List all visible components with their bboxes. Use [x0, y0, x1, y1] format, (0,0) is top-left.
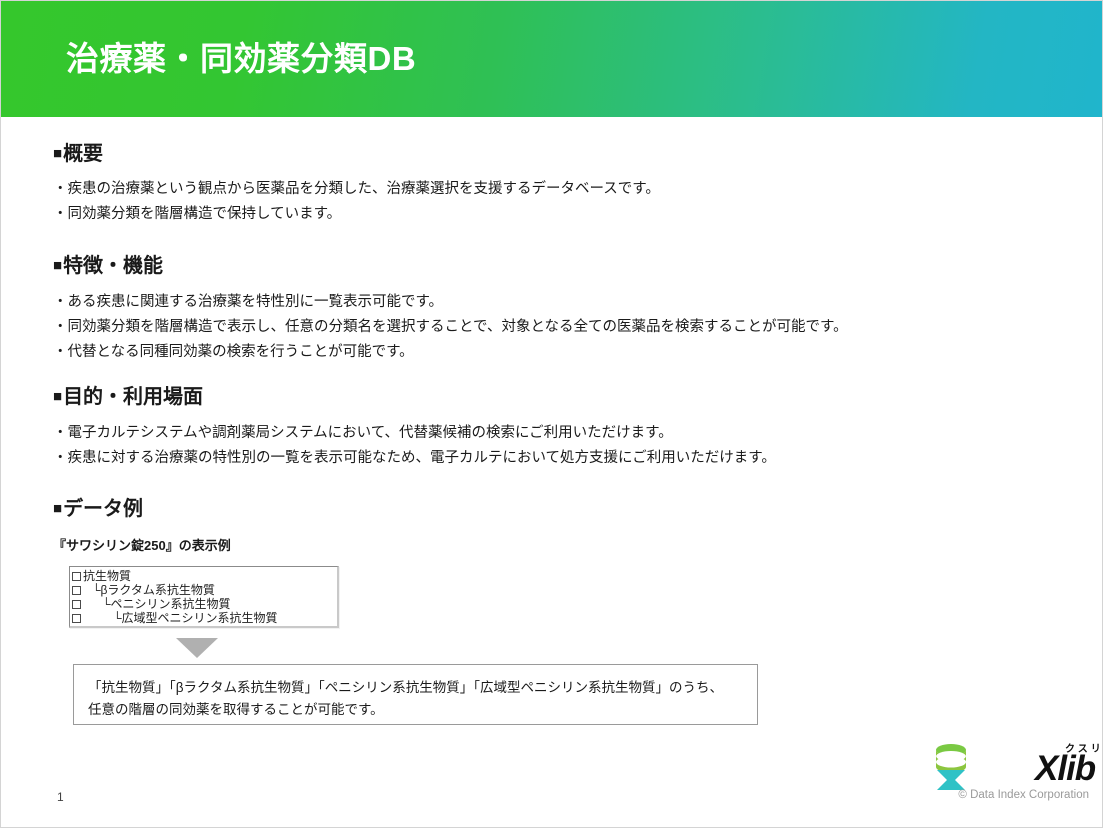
section-data-example-heading: ■データ例 — [53, 497, 339, 521]
section-features-title: 特徴・機能 — [63, 255, 163, 277]
section-marker-icon: ■ — [53, 388, 62, 405]
section-marker-icon: ■ — [53, 257, 62, 274]
section-marker-icon: ■ — [53, 145, 62, 162]
bullet-item: ・疾患の治療薬という観点から医薬品を分類した、治療薬選択を支援するデータベースで… — [53, 177, 660, 202]
section-purpose-heading: ■目的・利用場面 — [53, 385, 776, 409]
section-overview: ■概要 ・疾患の治療薬という観点から医薬品を分類した、治療薬選択を支援するデータ… — [53, 142, 660, 227]
checkbox-icon[interactable] — [72, 586, 81, 595]
bullet-item: ・ある疾患に関連する治療薬を特性別に一覧表示可能です。 — [53, 290, 848, 315]
tree-row[interactable]: └広域型ペニシリン系抗生物質 — [72, 611, 337, 625]
bullet-item: ・疾患に対する治療薬の特性別の一覧を表示可能なため、電子カルテにおいて処方支援に… — [53, 446, 776, 471]
bullet-item: ・同効薬分類を階層構造で表示し、任意の分類名を選択することで、対象となる全ての医… — [53, 315, 848, 340]
section-overview-title: 概要 — [63, 143, 103, 165]
tree-item-label: └広域型ペニシリン系抗生物質 — [83, 611, 278, 625]
tree-item-label: └βラクタム系抗生物質 — [83, 583, 215, 597]
section-purpose-bullets: ・電子カルテシステムや調剤薬局システムにおいて、代替薬候補の検索にご利用いただけ… — [53, 421, 776, 471]
classification-tree-box[interactable]: 抗生物質 └βラクタム系抗生物質 └ペニシリン系抗生物質 └広域型ペニシリン系抗… — [69, 566, 339, 628]
checkbox-icon[interactable] — [72, 600, 81, 609]
section-data-example: ■データ例 『サワシリン錠250』の表示例 抗生物質 └βラクタム系抗生物質 └… — [53, 497, 339, 628]
section-marker-icon: ■ — [53, 500, 62, 517]
checkbox-icon[interactable] — [72, 614, 81, 623]
page-number: 1 — [57, 790, 64, 804]
logo-wordmark: クスリブ Xlib — [977, 741, 1087, 791]
tree-row[interactable]: └ペニシリン系抗生物質 — [72, 597, 337, 611]
checkbox-icon[interactable] — [72, 572, 81, 581]
bullet-item: ・代替となる同種同効薬の検索を行うことが可能です。 — [53, 340, 848, 365]
section-purpose: ■目的・利用場面 ・電子カルテシステムや調剤薬局システムにおいて、代替薬候補の検… — [53, 385, 776, 471]
section-purpose-title: 目的・利用場面 — [63, 386, 203, 408]
bullet-item: ・同効薬分類を階層構造で保持しています。 — [53, 202, 660, 227]
section-features-bullets: ・ある疾患に関連する治療薬を特性別に一覧表示可能です。 ・同効薬分類を階層構造で… — [53, 290, 848, 365]
logo-text: Xlib — [1035, 749, 1095, 789]
section-features-heading: ■特徴・機能 — [53, 254, 848, 278]
data-example-caption: 『サワシリン錠250』の表示例 — [53, 535, 339, 554]
section-data-example-title: データ例 — [63, 498, 143, 520]
logo-block: クスリブ Xlib © Data Index Corporation — [919, 741, 1089, 811]
database-logo-icon — [929, 743, 973, 791]
tree-row[interactable]: └βラクタム系抗生物質 — [72, 583, 337, 597]
down-arrow-icon — [176, 638, 218, 658]
page-title: 治療薬・同効薬分類DB — [66, 39, 416, 79]
section-features: ■特徴・機能 ・ある疾患に関連する治療薬を特性別に一覧表示可能です。 ・同効薬分… — [53, 254, 848, 365]
callout-line: 任意の階層の同効薬を取得することが可能です。 — [88, 699, 743, 721]
header-banner: 治療薬・同効薬分類DB — [1, 1, 1103, 117]
callout-line: 「抗生物質」「βラクタム系抗生物質」「ペニシリン系抗生物質」「広域型ペニシリン系… — [88, 677, 743, 699]
tree-item-label: 抗生物質 — [83, 569, 131, 583]
tree-row[interactable]: 抗生物質 — [72, 569, 337, 583]
tree-item-label: └ペニシリン系抗生物質 — [83, 597, 231, 611]
callout-box: 「抗生物質」「βラクタム系抗生物質」「ペニシリン系抗生物質」「広域型ペニシリン系… — [73, 664, 758, 725]
copyright-text: © Data Index Corporation — [919, 789, 1089, 801]
section-overview-heading: ■概要 — [53, 142, 660, 166]
slide-page: 治療薬・同効薬分類DB ■概要 ・疾患の治療薬という観点から医薬品を分類した、治… — [0, 0, 1103, 828]
bullet-item: ・電子カルテシステムや調剤薬局システムにおいて、代替薬候補の検索にご利用いただけ… — [53, 421, 776, 446]
section-overview-bullets: ・疾患の治療薬という観点から医薬品を分類した、治療薬選択を支援するデータベースで… — [53, 177, 660, 227]
